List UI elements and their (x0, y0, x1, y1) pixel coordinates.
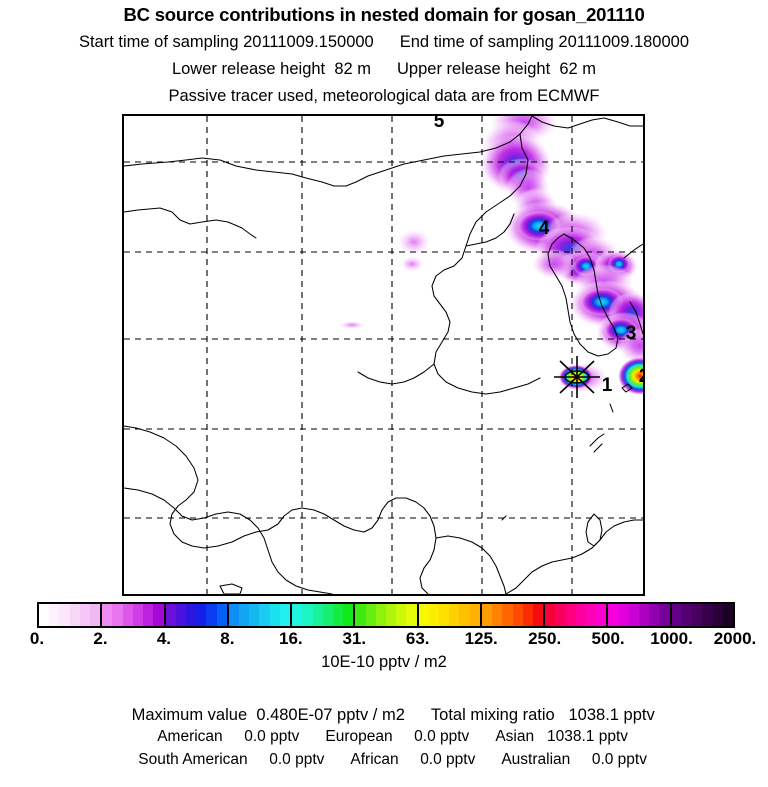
colorbar-step-0-4 (80, 604, 90, 626)
colorbar-step-2-1 (176, 604, 186, 626)
colorbar-step-8-0 (545, 604, 555, 626)
map-svg: 1 2 3 4 5 (124, 116, 643, 594)
colorbar-tick-16: 16. (279, 629, 303, 649)
colorbar-step-4-3 (323, 604, 333, 626)
region-australian-label: Australian (501, 751, 570, 768)
colorbar-step-5-3 (386, 604, 396, 626)
map-gridlines (124, 116, 643, 594)
colorbar-segment-0 (39, 604, 102, 626)
colorbar-step-7-4 (523, 604, 533, 626)
colorbar-step-4-4 (333, 604, 343, 626)
colorbar-step-10-5 (723, 604, 733, 626)
colorbar-tick-0: 0. (30, 629, 44, 649)
colorbar (37, 602, 735, 628)
region-south-american-value: 0.0 pptv (269, 751, 324, 768)
colorbar-step-10-0 (672, 604, 682, 626)
region-south-american: South American 0.0 pptv (138, 751, 324, 769)
colorbar-step-10-1 (682, 604, 692, 626)
upper-release-value: 62 m (559, 60, 596, 78)
colorbar-step-0-5 (90, 604, 100, 626)
plume-label-5: 5 (434, 116, 445, 132)
colorbar-step-3-5 (280, 604, 290, 626)
region-african-value: 0.0 pptv (420, 751, 475, 768)
colorbar-step-8-5 (596, 604, 606, 626)
colorbar-segment-3 (229, 604, 292, 626)
sampling-time-line: Start time of sampling 20111009.150000En… (0, 33, 768, 52)
colorbar-tick-2: 2. (93, 629, 107, 649)
release-site-star (554, 356, 600, 398)
lower-release-group: Lower release height 82 m (172, 60, 371, 79)
region-african: African 0.0 pptv (350, 751, 475, 769)
end-time-group: End time of sampling 20111009.180000 (400, 33, 689, 52)
region-australian-value: 0.0 pptv (592, 751, 647, 768)
map-plot-frame: 1 2 3 4 5 (122, 114, 645, 596)
coastline-overlay (124, 116, 643, 594)
colorbar-step-5-2 (376, 604, 386, 626)
colorbar-segment-5 (355, 604, 418, 626)
footer-region-row-2: South American 0.0 pptvAfrican 0.0 pptvA… (0, 733, 768, 787)
colorbar-tick-8: 8. (220, 629, 234, 649)
colorbar-step-4-5 (343, 604, 353, 626)
tracer-info-line: Passive tracer used, meteorological data… (0, 87, 768, 106)
colorbar-tick-125: 125. (465, 629, 498, 649)
colorbar-step-6-2 (439, 604, 449, 626)
plume-label-4: 4 (539, 218, 550, 239)
colorbar-step-9-2 (629, 604, 639, 626)
colorbar-step-3-1 (239, 604, 249, 626)
colorbar-step-1-4 (143, 604, 153, 626)
lower-release-value: 82 m (334, 60, 371, 78)
upper-release-label: Upper release height (397, 60, 550, 78)
colorbar-step-8-4 (586, 604, 596, 626)
colorbar-tick-31: 31. (342, 629, 366, 649)
colorbar-step-4-2 (313, 604, 323, 626)
colorbar-tick-250: 250. (528, 629, 561, 649)
colorbar-step-5-4 (396, 604, 406, 626)
colorbar-segment-4 (292, 604, 355, 626)
colorbar-tick-labels: 0.2.4.8.16.31.63.125.250.500.1000.2000. (0, 629, 768, 651)
colorbar-step-6-3 (449, 604, 459, 626)
colorbar-step-1-5 (153, 604, 163, 626)
colorbar-segment-10 (672, 604, 733, 626)
colorbar-step-5-0 (355, 604, 365, 626)
colorbar-step-3-4 (270, 604, 280, 626)
colorbar-unit-label: 10E-10 pptv / m2 (0, 653, 768, 672)
colorbar-step-3-0 (229, 604, 239, 626)
colorbar-step-6-4 (459, 604, 469, 626)
colorbar-step-3-3 (259, 604, 269, 626)
colorbar-step-0-3 (70, 604, 80, 626)
colorbar-step-9-3 (639, 604, 649, 626)
colorbar-tick-4: 4. (157, 629, 171, 649)
colorbar-step-4-0 (292, 604, 302, 626)
colorbar-step-9-5 (659, 604, 669, 626)
plume-label-3: 3 (626, 323, 637, 344)
colorbar-step-0-1 (49, 604, 59, 626)
colorbar-segment-1 (102, 604, 165, 626)
page-title: BC source contributions in nested domain… (0, 4, 768, 26)
colorbar-step-8-2 (566, 604, 576, 626)
colorbar-step-6-0 (419, 604, 429, 626)
map-canvas: 1 2 3 4 5 (124, 116, 643, 594)
colorbar-tick-2000: 2000. (714, 629, 757, 649)
colorbar-step-9-0 (608, 604, 618, 626)
colorbar-step-7-3 (513, 604, 523, 626)
plot-page: BC source contributions in nested domain… (0, 0, 768, 768)
colorbar-step-0-2 (59, 604, 69, 626)
colorbar-step-2-2 (186, 604, 196, 626)
region-south-american-label: South American (138, 751, 247, 768)
colorbar-step-1-2 (123, 604, 133, 626)
colorbar-step-9-4 (649, 604, 659, 626)
colorbar-segment-9 (608, 604, 671, 626)
colorbar-step-7-5 (533, 604, 543, 626)
colorbar-step-9-1 (619, 604, 629, 626)
region-australian: Australian 0.0 pptv (501, 751, 647, 769)
colorbar-tick-500: 500. (592, 629, 625, 649)
upper-release-group: Upper release height 62 m (397, 60, 596, 79)
colorbar-step-1-1 (112, 604, 122, 626)
colorbar-step-1-3 (133, 604, 143, 626)
colorbar-segment-7 (482, 604, 545, 626)
colorbar-step-4-1 (302, 604, 312, 626)
start-time-value: 20111009.150000 (243, 33, 374, 51)
colorbar-segment-2 (166, 604, 229, 626)
colorbar-step-2-4 (206, 604, 216, 626)
colorbar-step-10-2 (692, 604, 702, 626)
colorbar-tick-63: 63. (406, 629, 430, 649)
colorbar-step-5-5 (406, 604, 416, 626)
end-time-value: 20111009.180000 (558, 33, 689, 51)
colorbar-step-2-5 (217, 604, 227, 626)
colorbar-step-10-3 (702, 604, 712, 626)
concentration-plume-field (339, 116, 643, 395)
colorbar-segment-6 (419, 604, 482, 626)
colorbar-step-7-1 (492, 604, 502, 626)
colorbar-step-6-5 (470, 604, 480, 626)
colorbar-step-1-0 (102, 604, 112, 626)
colorbar-step-6-1 (429, 604, 439, 626)
colorbar-tick-1000: 1000. (650, 629, 693, 649)
lower-release-label: Lower release height (172, 60, 325, 78)
start-time-label: Start time of sampling (79, 33, 239, 51)
colorbar-step-5-1 (366, 604, 376, 626)
colorbar-step-0-0 (39, 604, 49, 626)
colorbar-step-7-0 (482, 604, 492, 626)
end-time-label: End time of sampling (400, 33, 554, 51)
plume-label-1: 1 (602, 375, 613, 396)
colorbar-step-8-3 (576, 604, 586, 626)
colorbar-step-10-4 (713, 604, 723, 626)
plume-label-2: 2 (639, 366, 643, 387)
colorbar-step-2-0 (166, 604, 176, 626)
colorbar-segment-8 (545, 604, 608, 626)
release-height-line: Lower release height 82 mUpper release h… (0, 60, 768, 79)
start-time-group: Start time of sampling 20111009.150000 (79, 33, 374, 52)
region-african-label: African (350, 751, 398, 768)
colorbar-step-7-2 (502, 604, 512, 626)
colorbar-step-2-3 (196, 604, 206, 626)
colorbar-step-3-2 (249, 604, 259, 626)
colorbar-step-8-1 (555, 604, 565, 626)
